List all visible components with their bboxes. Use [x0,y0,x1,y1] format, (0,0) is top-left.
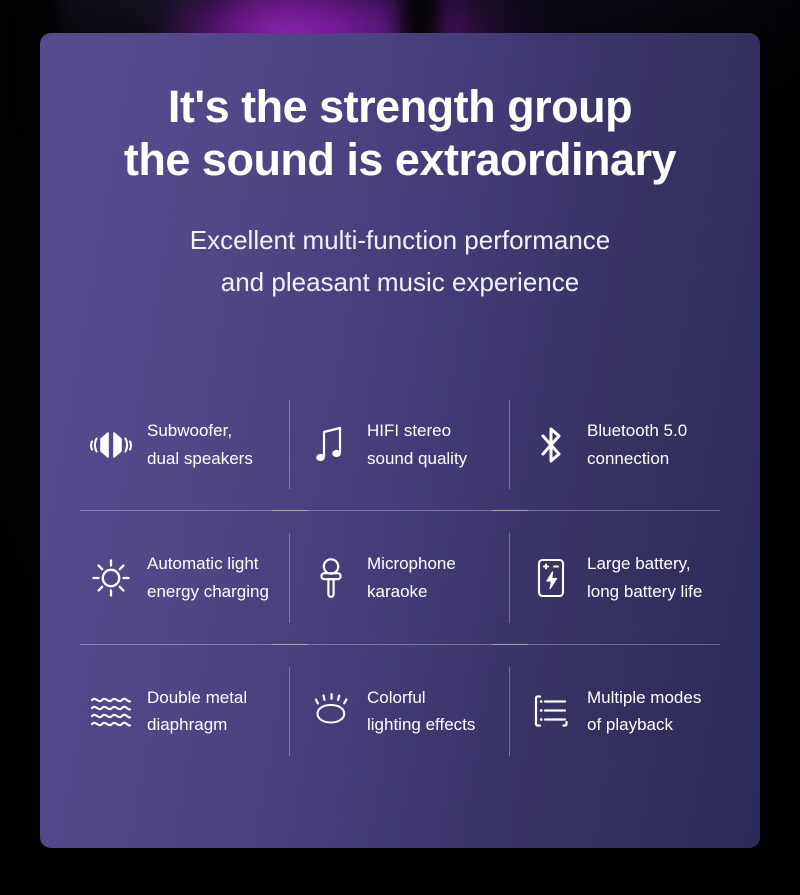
battery-bolt-icon [528,555,574,601]
microphone-icon [308,555,354,601]
feature-item-microphone: Microphone karaoke [290,511,510,644]
feature-label: Double metal diaphragm [147,684,247,739]
feature-item-bluetooth: Bluetooth 5.0 connection [510,378,730,511]
feature-grid: Subwoofer, dual speakers HIFI stereo sou… [70,378,730,778]
feature-label: Large battery, long battery life [587,550,702,605]
feature-label: Subwoofer, dual speakers [147,417,253,472]
feature-label: Automatic light energy charging [147,550,269,605]
subhead-line-1: Excellent multi-function performance [80,219,720,261]
feature-item-hifi: HIFI stereo sound quality [290,378,510,511]
dual-speakers-icon [88,422,134,468]
page-subtitle: Excellent multi-function performance and… [40,219,760,303]
promo-card: It's the strength group the sound is ext… [40,33,760,848]
feature-label: HIFI stereo sound quality [367,417,467,472]
bluetooth-icon [528,422,574,468]
feature-label: Bluetooth 5.0 connection [587,417,687,472]
feature-item-solar-charging: Automatic light energy charging [70,511,290,644]
headline-line-1: It's the strength group [62,81,738,134]
music-note-icon [308,422,354,468]
feature-item-lighting: Colorful lighting effects [290,645,510,778]
glow-lamp-icon [308,688,354,734]
feature-label: Colorful lighting effects [367,684,475,739]
wave-lines-icon [88,688,134,734]
headline-line-2: the sound is extraordinary [62,134,738,187]
feature-label: Microphone karaoke [367,550,456,605]
playlist-icon [528,688,574,734]
feature-item-subwoofer: Subwoofer, dual speakers [70,378,290,511]
subhead-line-2: and pleasant music experience [80,261,720,303]
page-title: It's the strength group the sound is ext… [40,81,760,186]
sun-icon [88,555,134,601]
feature-label: Multiple modes of playback [587,684,701,739]
feature-item-battery: Large battery, long battery life [510,511,730,644]
feature-item-playback-modes: Multiple modes of playback [510,645,730,778]
feature-item-diaphragm: Double metal diaphragm [70,645,290,778]
